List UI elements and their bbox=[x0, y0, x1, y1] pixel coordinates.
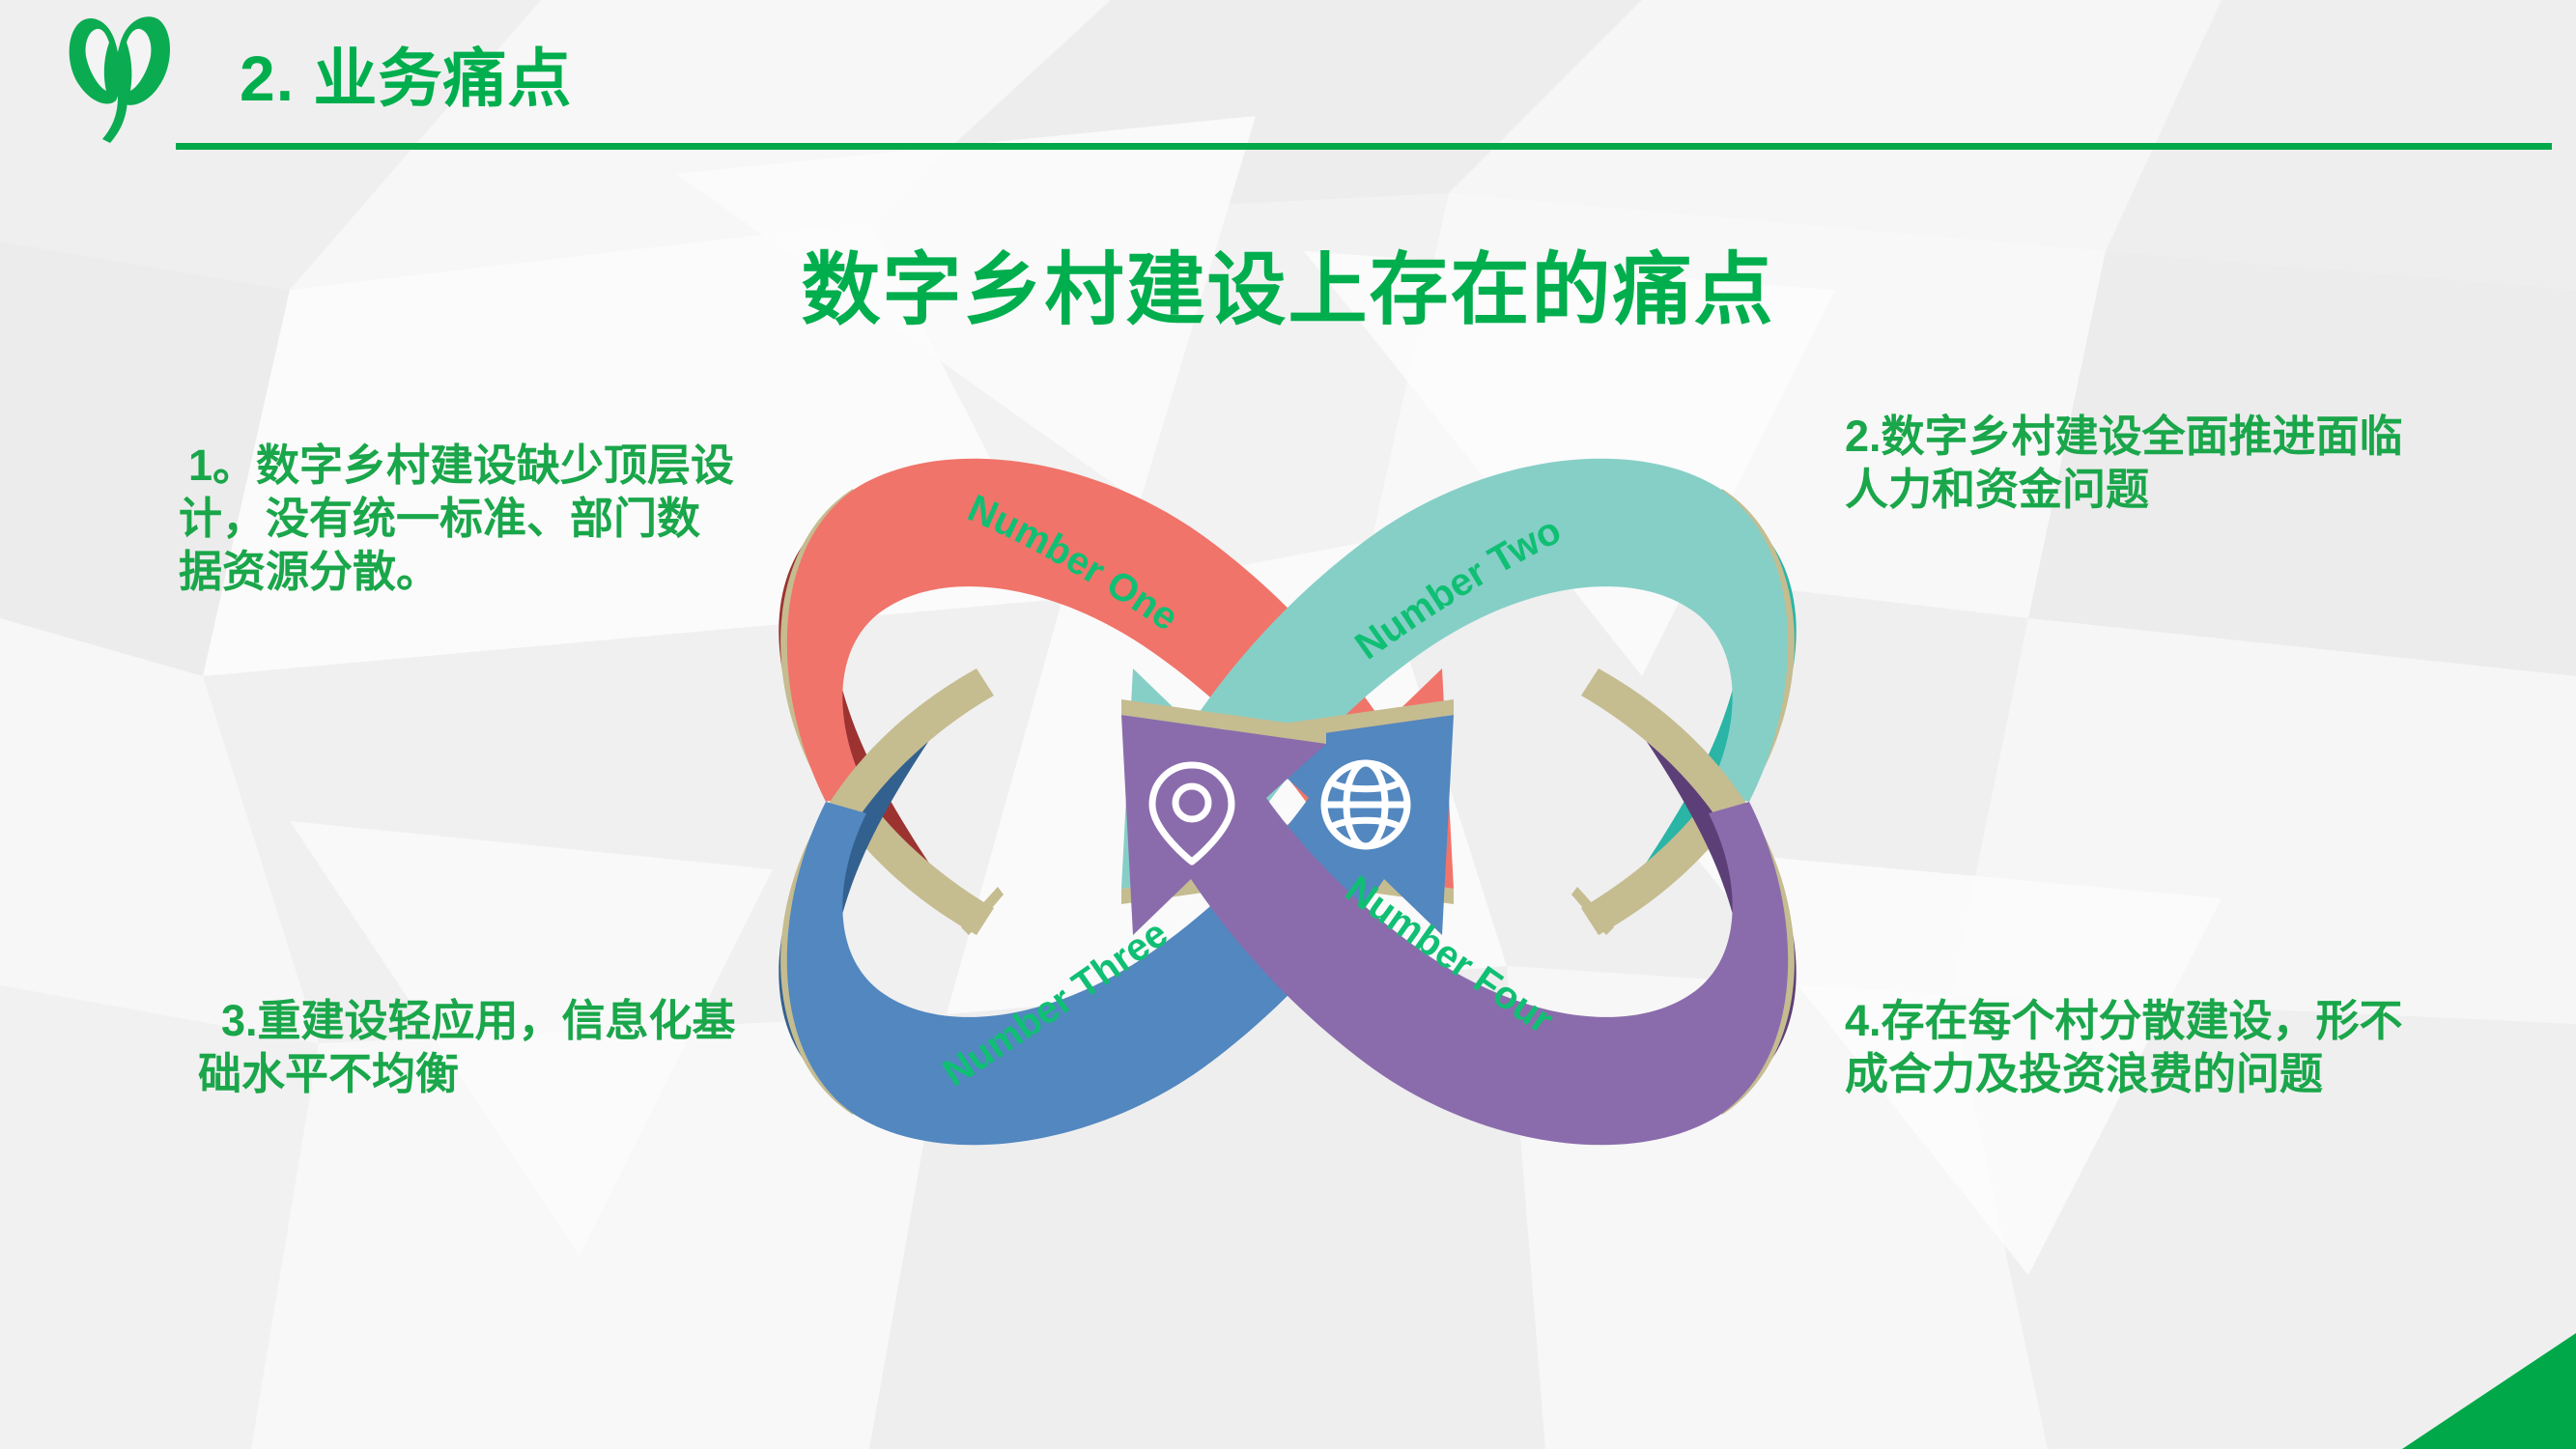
butterfly-arrow-diagram: Number One Number Two bbox=[708, 406, 1867, 1188]
callout-text-2: 2.数字乡村建设全面推进面临人力和资金问题 bbox=[1845, 411, 2424, 517]
callout-text-3: 3.重建设轻应用，信息化基础水平不均衡 bbox=[198, 995, 749, 1101]
arrow-four[interactable]: Number Four bbox=[1121, 668, 1797, 1145]
callout-text-1: 1。数字乡村建设缺少顶层设计，没有统一标准、部门数据资源分散。 bbox=[179, 440, 739, 599]
corner-triangle-decoration bbox=[2344, 1333, 2576, 1449]
leaf-icon bbox=[56, 12, 180, 143]
slide-header: 2. 业务痛点 bbox=[0, 0, 2576, 155]
header-divider bbox=[176, 143, 2552, 150]
page-title: 2. 业务痛点 bbox=[240, 27, 572, 120]
slide-root: 2. 业务痛点 数字乡村建设上存在的痛点 1。数字乡村建设缺少顶层设计，没有统一… bbox=[0, 0, 2576, 1449]
callout-text-4: 4.存在每个村分散建设，形不成合力及投资浪费的问题 bbox=[1845, 995, 2434, 1101]
main-heading: 数字乡村建设上存在的痛点 bbox=[0, 225, 2576, 340]
